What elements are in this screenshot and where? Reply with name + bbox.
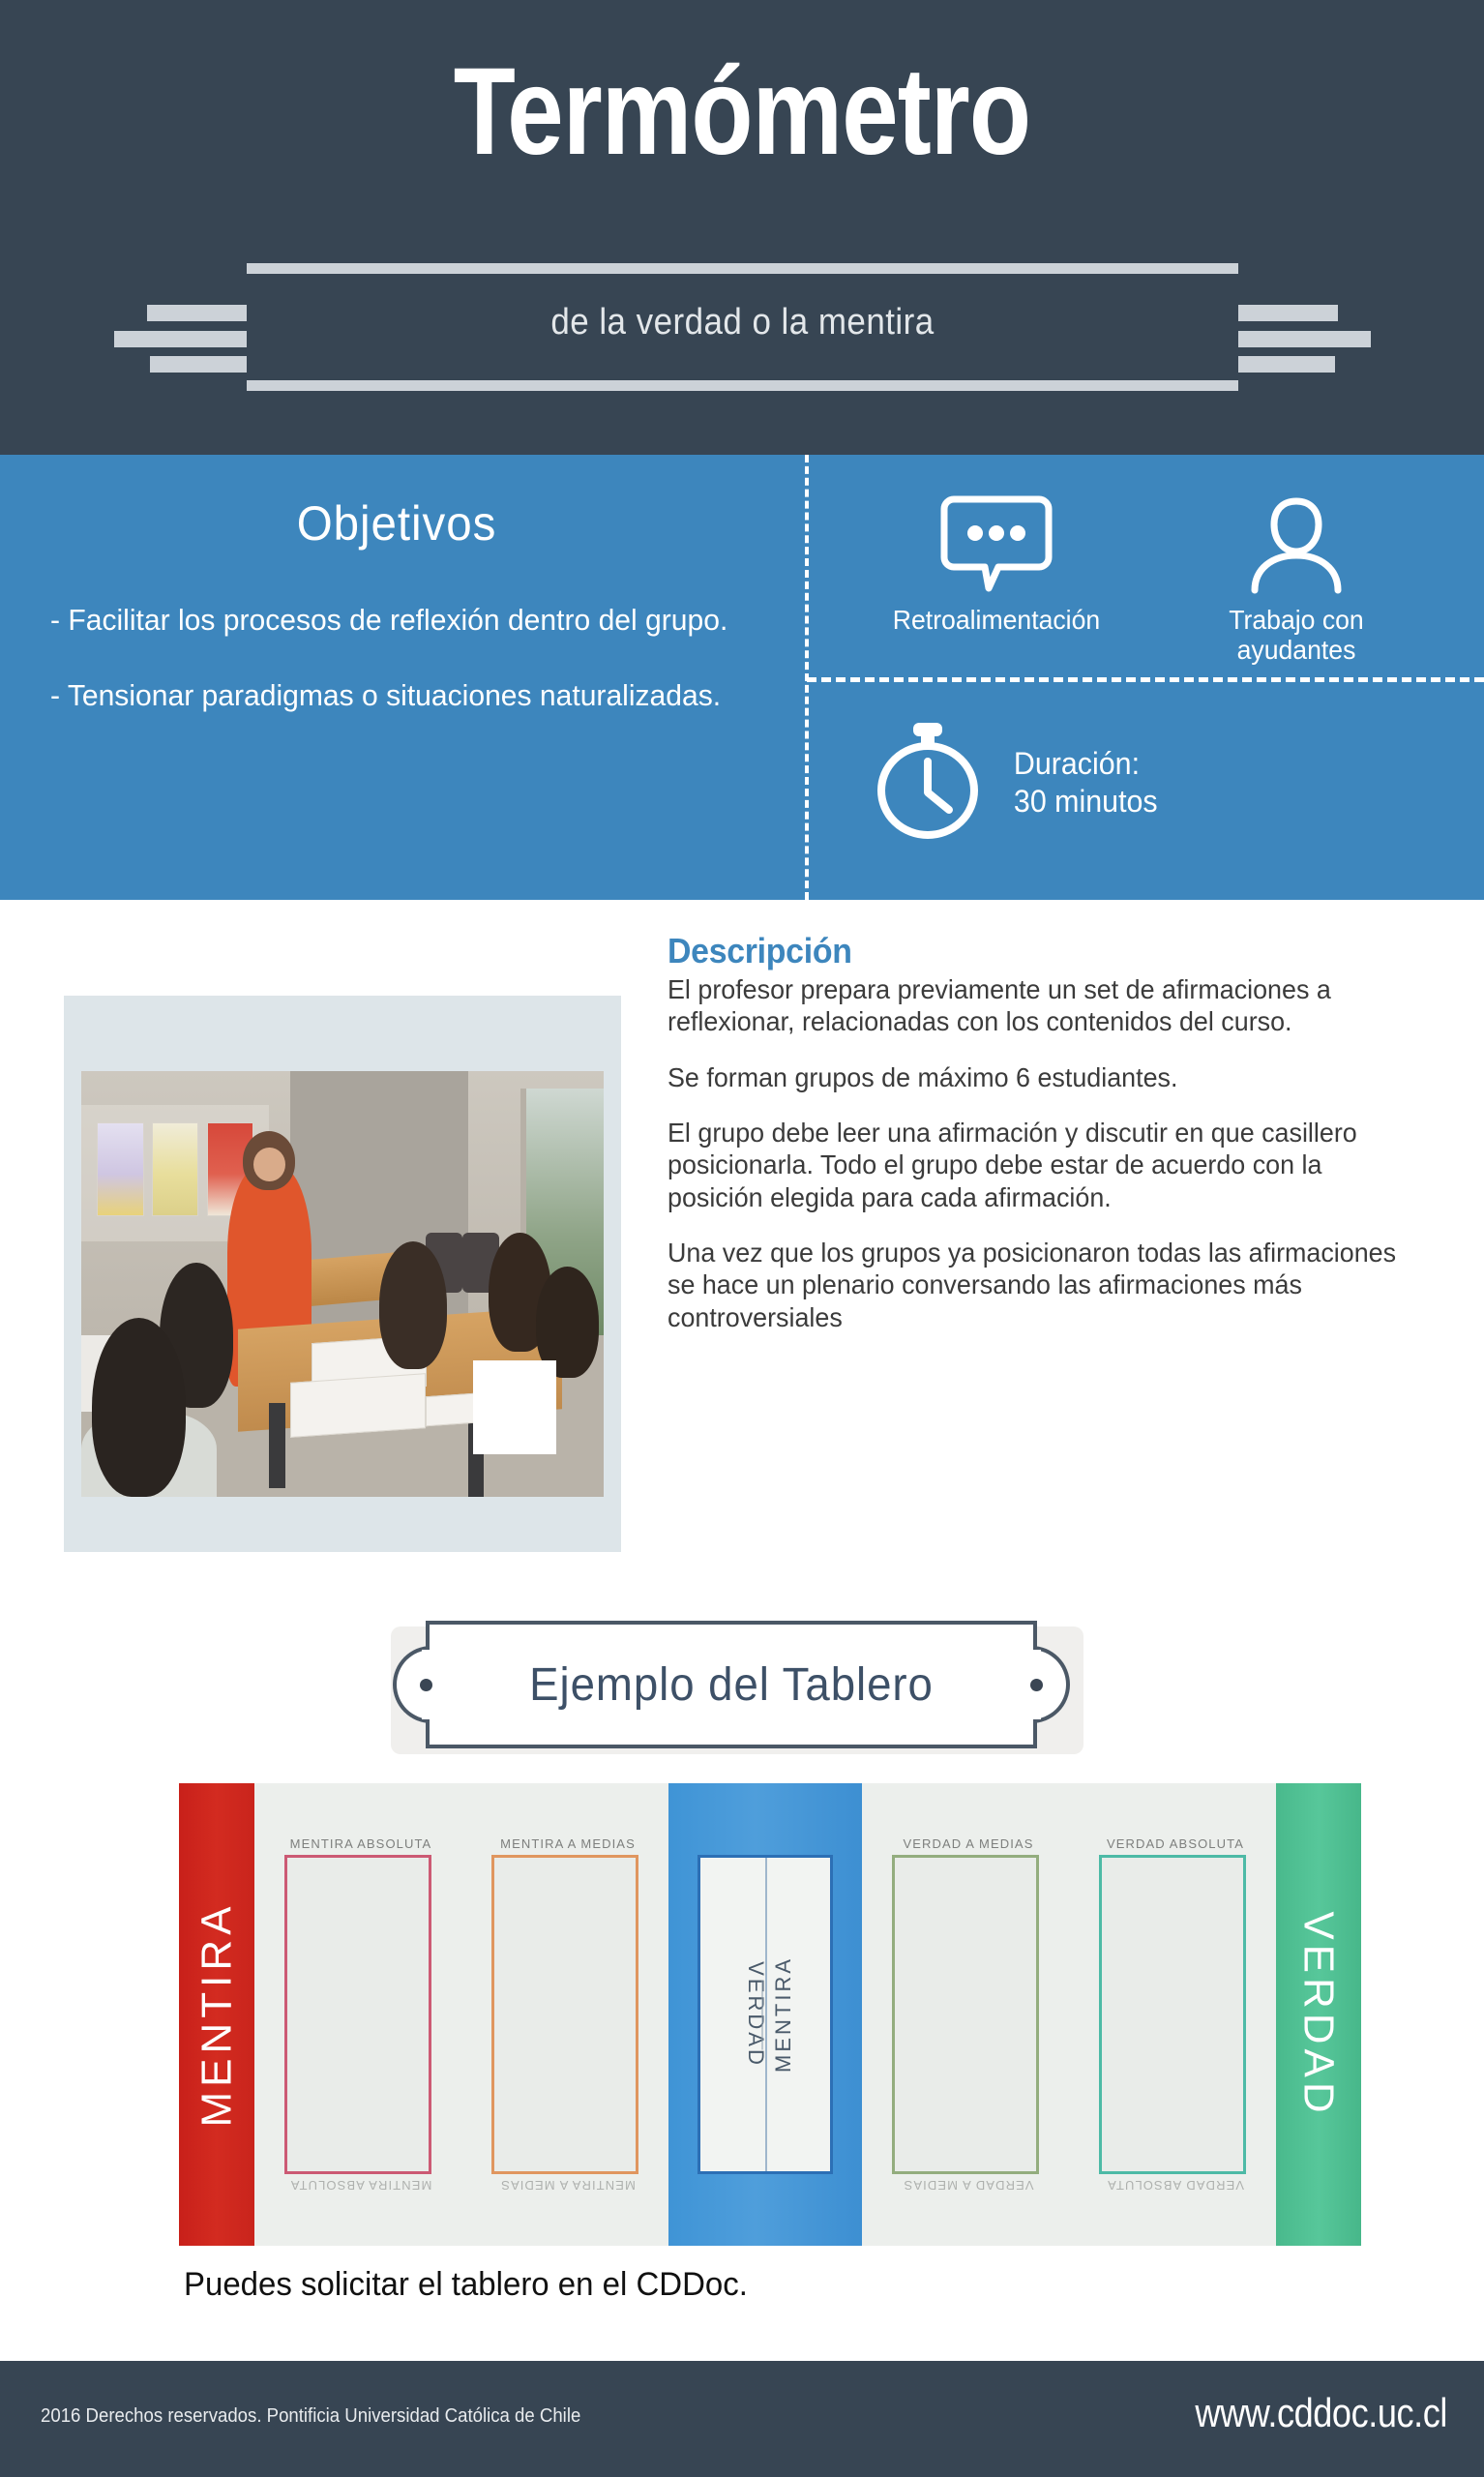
infographic-page: Termómetro de la verdad o la mentira Obj… xyxy=(0,0,1484,2477)
board-center-card: MENTIRA VERDAD xyxy=(697,1855,833,2174)
footer-bar: 2016 Derechos reservados. Pontificia Uni… xyxy=(0,2361,1484,2477)
header-tick-right-3 xyxy=(1238,356,1335,373)
person-icon xyxy=(1243,582,1350,598)
board-center-divider: MENTIRA VERDAD xyxy=(668,1783,862,2246)
board-cell: MENTIRA ABSOLUTA MENTIRA ABSOLUTA xyxy=(254,1783,461,2246)
board-cell-label: MENTIRA A MEDIAS xyxy=(475,1836,661,1851)
stopwatch-icon xyxy=(871,721,985,844)
meta-duration-label: Duración: 30 minutos xyxy=(1014,745,1158,820)
footer-copyright: 2016 Derechos reservados. Pontificia Uni… xyxy=(41,2405,580,2428)
page-subtitle: de la verdad o la mentira xyxy=(286,302,1199,343)
board-cell-label-mirror: VERDAD A MEDIAS xyxy=(876,2178,1061,2193)
speech-bubble-icon xyxy=(938,582,1054,598)
horizontal-divider xyxy=(807,677,1484,682)
meta-duration-line2: 30 minutos xyxy=(1014,783,1158,820)
objectives-title: Objetivos xyxy=(75,495,719,552)
plaque: Ejemplo del Tablero xyxy=(385,1621,1078,1748)
board-cell-label-mirror: VERDAD ABSOLUTA xyxy=(1083,2178,1268,2193)
photo-frame xyxy=(64,996,621,1552)
board-cell-label: MENTIRA ABSOLUTA xyxy=(268,1836,454,1851)
objectives-item: - Facilitar los procesos de reflexión de… xyxy=(50,602,745,639)
meta-feedback: Retroalimentación xyxy=(851,493,1142,635)
header-tick-left-2 xyxy=(114,331,247,347)
classroom-photo xyxy=(81,1071,604,1497)
board-example-banner: Ejemplo del Tablero xyxy=(385,1621,1101,1766)
header-tick-right-2 xyxy=(1238,331,1371,347)
board-band-left: MENTIRA xyxy=(179,1783,254,2246)
description-paragraph: Una vez que los grupos ya posicionaron t… xyxy=(668,1237,1410,1333)
board-band-right: VERDAD xyxy=(1276,1783,1361,2246)
board-cell-label: VERDAD ABSOLUTA xyxy=(1083,1836,1268,1851)
board-cell: VERDAD ABSOLUTA VERDAD ABSOLUTA xyxy=(1069,1783,1276,2246)
meta-feedback-label: Retroalimentación xyxy=(859,605,1135,635)
board-center-rule xyxy=(762,1981,763,2050)
header-tick-right-1 xyxy=(1238,305,1338,321)
header-rule-top xyxy=(247,263,1238,274)
page-title: Termómetro xyxy=(134,50,1350,174)
description-title: Descripción xyxy=(668,931,1395,971)
plaque-dot-left-icon xyxy=(420,1679,432,1691)
plaque-label: Ejemplo del Tablero xyxy=(441,1621,1022,1748)
board-caption: Puedes solicitar el tablero en el CDDoc. xyxy=(184,2266,748,2304)
meta-duration-line1: Duración: xyxy=(1014,745,1158,782)
header-tick-left-1 xyxy=(147,305,247,321)
description-paragraph: El profesor prepara previamente un set d… xyxy=(668,973,1410,1038)
board-cell: VERDAD A MEDIAS VERDAD A MEDIAS xyxy=(862,1783,1069,2246)
plaque-dot-right-icon xyxy=(1030,1679,1043,1691)
meta-helper: Trabajo con ayudantes xyxy=(1161,493,1432,666)
board-center-right-word: VERDAD xyxy=(743,1961,768,2068)
board-cell-label-mirror: MENTIRA A MEDIAS xyxy=(475,2178,661,2193)
objectives-item: - Tensionar paradigmas o situaciones nat… xyxy=(50,677,745,714)
board-band-left-label: MENTIRA xyxy=(193,1902,241,2128)
board-image: MENTIRA MENTIRA ABSOLUTA MENTIRA ABSOLUT… xyxy=(179,1783,1361,2246)
meta-helper-label: Trabajo con ayudantes xyxy=(1168,605,1425,666)
header-tick-left-3 xyxy=(150,356,247,373)
header-banner: Termómetro de la verdad o la mentira xyxy=(0,0,1484,455)
description-paragraph: Se forman grupos de máximo 6 estudiantes… xyxy=(668,1061,1410,1093)
meta-duration: Duración: 30 minutos xyxy=(871,721,1470,844)
board-cell: MENTIRA A MEDIAS MENTIRA A MEDIAS xyxy=(461,1783,668,2246)
objectives-list: - Facilitar los procesos de reflexión de… xyxy=(50,602,766,753)
footer-website[interactable]: www.cddoc.uc.cl xyxy=(1195,2390,1447,2436)
board-cell-label: VERDAD A MEDIAS xyxy=(876,1836,1061,1851)
description-block: Descripción El profesor prepara previame… xyxy=(668,931,1441,1357)
description-paragraph: El grupo debe leer una afirmación y disc… xyxy=(668,1117,1410,1213)
board-band-right-label: VERDAD xyxy=(1294,1911,1343,2117)
board-center-left-word: MENTIRA xyxy=(771,1956,796,2073)
header-rule-bottom xyxy=(247,380,1238,391)
board-cell-label-mirror: MENTIRA ABSOLUTA xyxy=(268,2178,454,2193)
